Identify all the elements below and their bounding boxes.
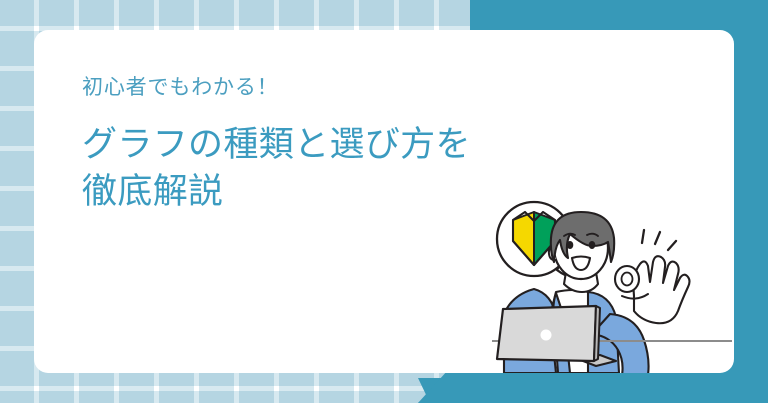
illustration-woman-at-laptop: [492, 196, 732, 373]
mouth: [572, 257, 590, 271]
ok-hand: [615, 256, 690, 323]
hand-palm: [634, 256, 690, 323]
laptop: [497, 306, 616, 366]
ok-circle-inner: [622, 273, 633, 286]
page-title: グラフの種類と選び方を 徹底解説: [82, 122, 552, 216]
eye-right: [589, 241, 596, 249]
eye-left: [567, 241, 574, 249]
eyebrow-text: 初心者でもわかる！: [82, 74, 552, 100]
page-title-line-2: 徹底解説: [82, 169, 552, 216]
laptop-logo: [541, 330, 552, 341]
laptop-lid-edge: [594, 306, 600, 361]
page-title-line-1: グラフの種類と選び方を: [82, 122, 552, 169]
banner-image: 初心者でもわかる！ グラフの種類と選び方を 徹底解説: [0, 0, 768, 403]
teal-band-bottom: [418, 370, 768, 403]
sparkle-icon: [642, 230, 676, 250]
text-block: 初心者でもわかる！ グラフの種類と選び方を 徹底解説: [82, 74, 552, 216]
